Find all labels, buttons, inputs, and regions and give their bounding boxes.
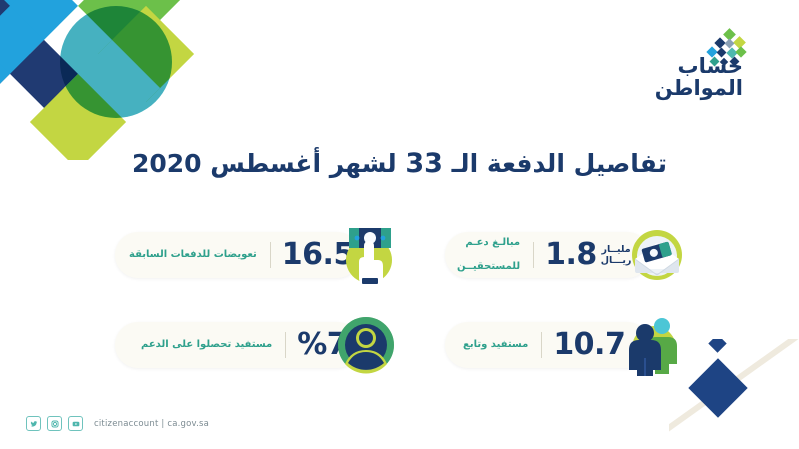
infographic-canvas: حساب المواطن تفاصيل الدفعة الـ 33 لشهر أ… [0, 0, 799, 449]
card-divider [285, 332, 286, 358]
stat-card-beneficiaries-and-dependents: مليون 10.7 مستفيد وتابع [445, 322, 663, 368]
envelope-money-icon [627, 225, 687, 285]
title-suffix: لشهر أغسطس 2020 [132, 149, 397, 178]
footer-text: citizenaccount | ca.gov.sa [94, 419, 209, 429]
footer-handle: citizenaccount [94, 419, 158, 429]
logo-text-line2: المواطن [655, 76, 743, 100]
instagram-icon[interactable] [47, 416, 62, 431]
title-payment-number: 33 [405, 148, 443, 179]
page-title: تفاصيل الدفعة الـ 33 لشهر أغسطس 2020 [0, 148, 799, 179]
stat-label: مبالـغ دعـم للمستحقيــن [453, 225, 524, 285]
person-avatar-icon [337, 314, 397, 374]
stat-label: مستفيد تحصلوا على الدعم [137, 327, 276, 363]
card-divider [270, 242, 271, 268]
hand-touch-banknote-icon [340, 220, 400, 280]
title-prefix: تفاصيل الدفعة الـ [452, 149, 667, 178]
logo-text-line1: حساب [678, 54, 744, 78]
stat-card-support-amounts: مليــار ريـــال 1.8 مبالـغ دعـم للمستحقي… [445, 232, 637, 278]
card-divider [533, 242, 534, 268]
stat-value: 10.7 [551, 330, 627, 360]
card-divider [541, 332, 542, 358]
decorative-diamond-pattern [0, 0, 230, 160]
stat-label: مستفيد وتابع [459, 327, 532, 363]
brand-logo: حساب المواطن [641, 28, 771, 108]
footer-website: ca.gov.sa [167, 419, 209, 429]
decorative-corner-diamond [669, 339, 799, 449]
youtube-icon[interactable] [68, 416, 83, 431]
footer-separator: | [161, 419, 164, 429]
stat-card-previous-payment-compensation: مليون ريـــال 16.5 تعويضات للدفعات الساب… [115, 232, 394, 278]
stat-label: تعويضات للدفعات السابقة [125, 237, 261, 273]
twitter-icon[interactable] [26, 416, 41, 431]
stat-value: 1.8 [543, 240, 599, 270]
stat-card-beneficiaries-received-support: %78 مستفيد تحصلوا على الدعم [115, 322, 370, 368]
footer: citizenaccount | ca.gov.sa [26, 416, 209, 431]
